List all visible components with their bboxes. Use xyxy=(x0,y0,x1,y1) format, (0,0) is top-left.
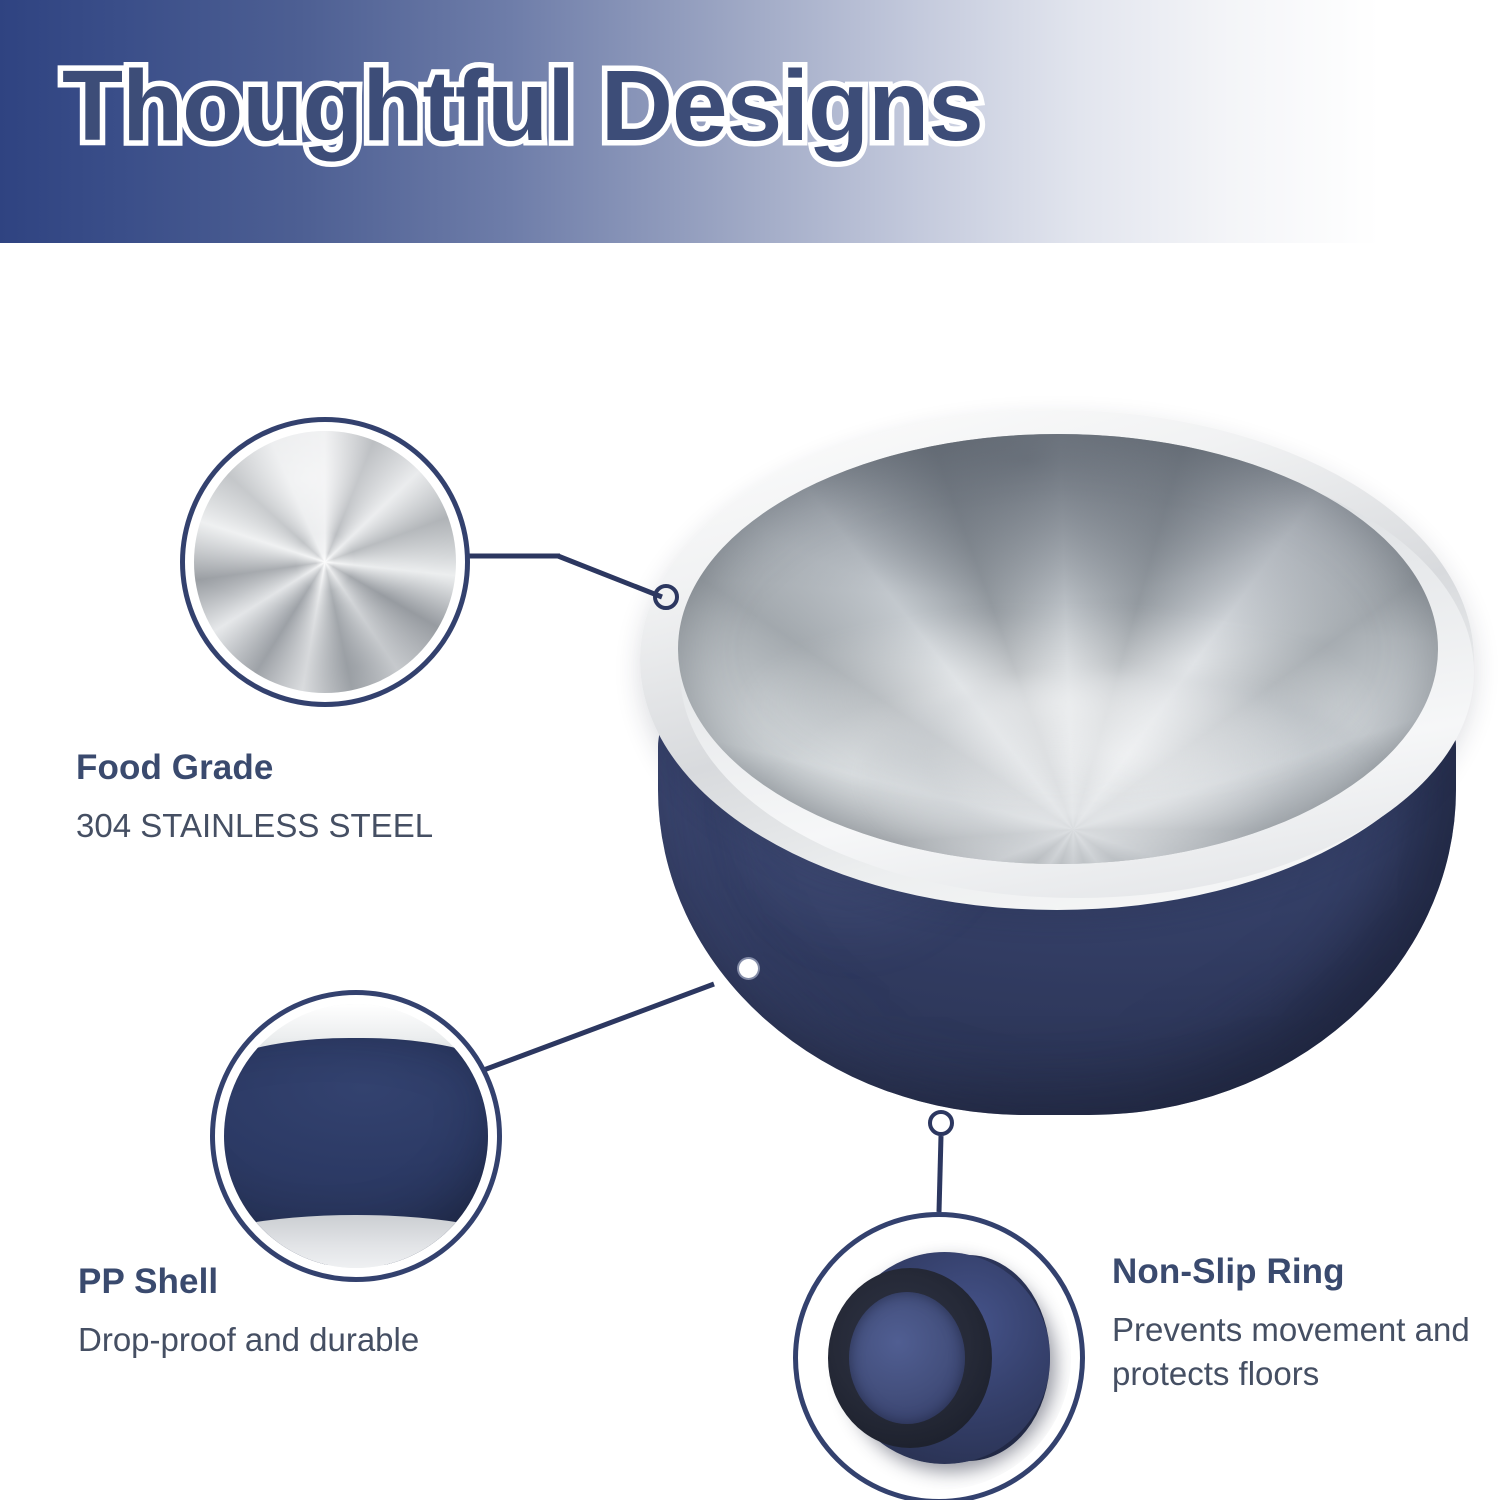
feature-text-non-slip-ring: Non-Slip Ring Prevents movement and prot… xyxy=(1112,1252,1500,1396)
callout-food-grade xyxy=(180,417,470,707)
callout-pp-shell xyxy=(210,990,502,1282)
infographic-page: Thoughtful Designs xyxy=(0,0,1500,1500)
feature-text-food-grade: Food Grade 304 STAINLESS STEEL xyxy=(76,748,596,848)
anchor-ring-food-grade xyxy=(653,584,679,610)
feature-desc-non-slip-ring: Prevents movement and protects floors xyxy=(1112,1308,1500,1396)
bowl-base-reflection xyxy=(860,672,1380,864)
metal-sheen xyxy=(194,431,456,693)
product-image-bowl xyxy=(620,390,1490,1170)
header-band: Thoughtful Designs xyxy=(0,0,1500,243)
bowl-steel-interior xyxy=(678,434,1438,864)
pp-rim-bottom xyxy=(224,1215,488,1268)
feature-title-food-grade: Food Grade xyxy=(76,748,596,788)
feature-text-pp-shell: PP Shell Drop-proof and durable xyxy=(78,1262,598,1362)
navy-shell-closeup-icon xyxy=(224,1004,488,1268)
feature-title-non-slip-ring: Non-Slip Ring xyxy=(1112,1252,1500,1292)
page-title: Thoughtful Designs xyxy=(62,52,983,160)
brushed-steel-disc-icon xyxy=(194,431,456,693)
feature-desc-pp-shell: Drop-proof and durable xyxy=(78,1318,598,1362)
rubber-base-ring-icon xyxy=(807,1226,1071,1490)
feature-desc-food-grade: 304 STAINLESS STEEL xyxy=(76,804,596,848)
callout-non-slip-ring xyxy=(793,1212,1085,1500)
anchor-ring-non-slip xyxy=(928,1110,954,1136)
ring-center-disc xyxy=(849,1292,965,1424)
pp-shell-dot-marker xyxy=(739,959,758,978)
feature-title-pp-shell: PP Shell xyxy=(78,1262,598,1302)
